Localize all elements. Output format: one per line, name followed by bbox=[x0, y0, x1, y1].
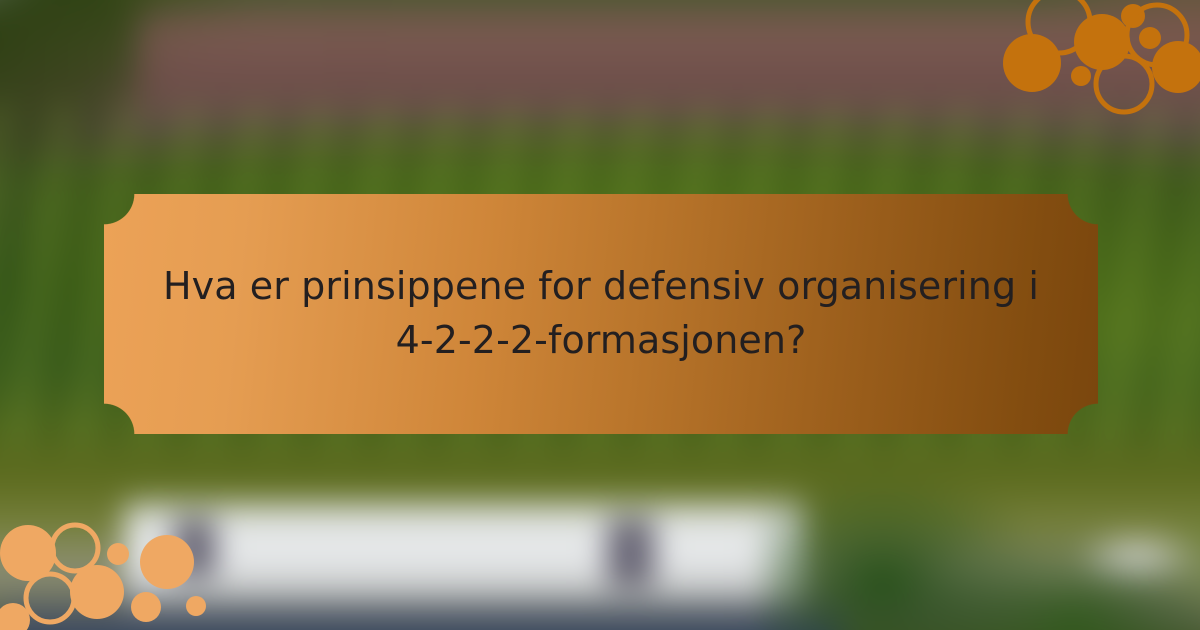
background-sky-patch bbox=[0, 0, 112, 59]
question-card: Hva er prinsippene for defensiv organise… bbox=[104, 194, 1098, 434]
screenshot-canvas: Hva er prinsippene for defensiv organise… bbox=[0, 0, 1200, 630]
background-white-spot bbox=[1061, 526, 1200, 586]
background-bench bbox=[125, 496, 803, 616]
background-bench-leg-right bbox=[607, 518, 656, 586]
background-bench-leg-left bbox=[173, 518, 216, 578]
question-text: Hva er prinsippene for defensiv organise… bbox=[160, 260, 1042, 368]
background-warm-right bbox=[980, 0, 1200, 119]
background-ground-strip bbox=[3, 601, 844, 630]
